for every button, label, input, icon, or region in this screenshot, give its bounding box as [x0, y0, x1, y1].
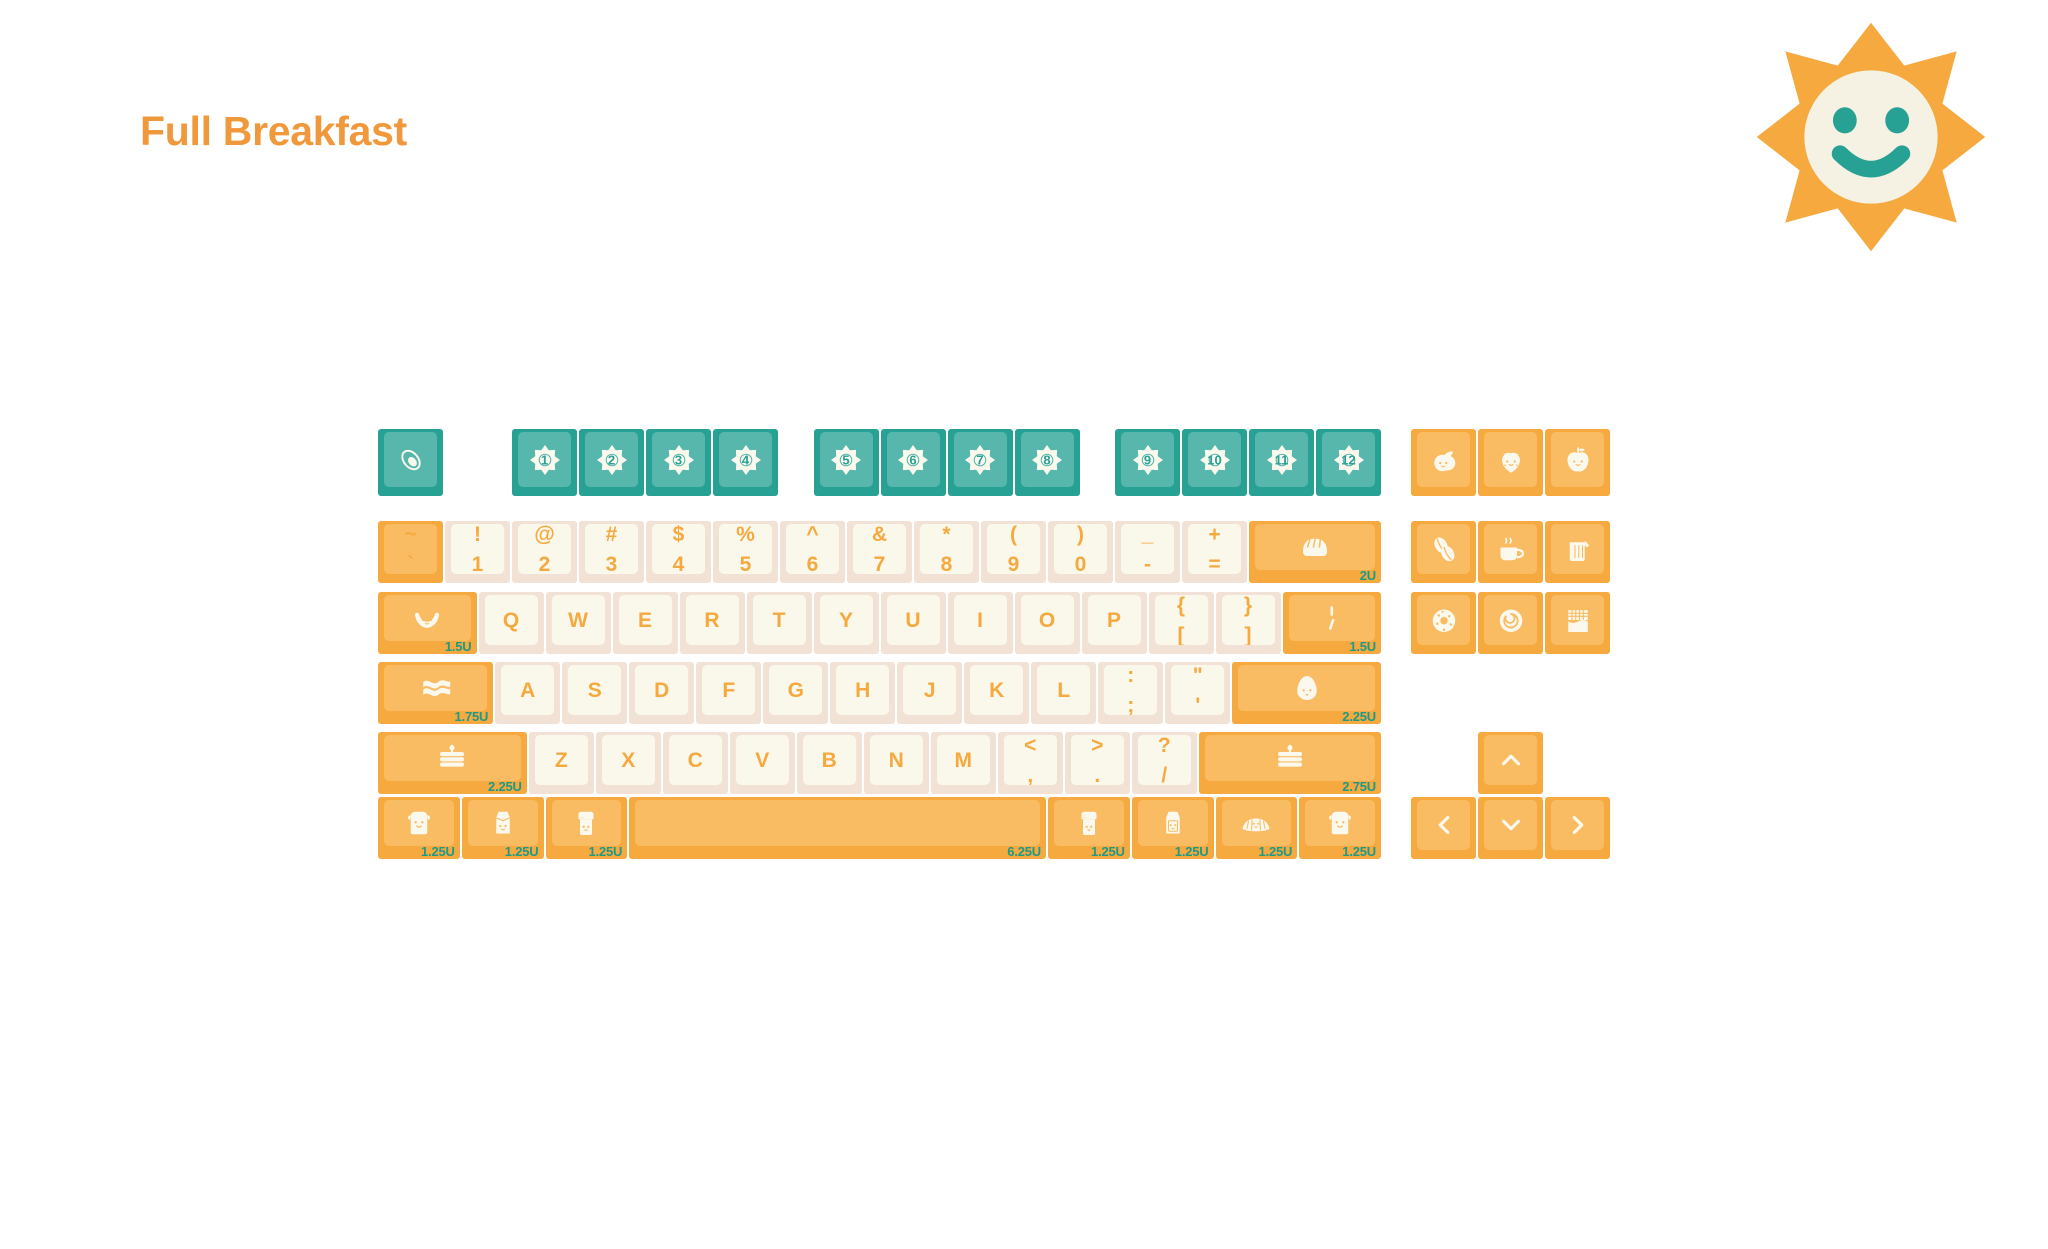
digit-5-legend-secondary: 5 [740, 554, 752, 575]
novelty-coffee-cup-keycap-top [1484, 524, 1537, 574]
equals-keycap-top: += [1188, 524, 1241, 574]
digit-2-keycap-top: @2 [518, 524, 571, 574]
key-digit-3[interactable]: #3 [579, 521, 644, 583]
key-n-legend-primary: N [889, 750, 904, 771]
key-f5[interactable]: 5 [814, 429, 879, 496]
arrow-right-keycap-top [1551, 800, 1604, 850]
key-f6[interactable]: 6 [881, 429, 946, 496]
right-alt-keycap-top [1054, 800, 1124, 846]
key-bracket-left[interactable]: {[ [1149, 592, 1214, 654]
key-equals[interactable]: += [1182, 521, 1247, 583]
key-digit-7[interactable]: &7 [847, 521, 912, 583]
f9-keycap-top: 9 [1121, 432, 1174, 487]
key-key-b[interactable]: B [797, 732, 862, 794]
bracket-right-legend-primary: } [1244, 595, 1252, 616]
key-key-k[interactable]: K [964, 662, 1029, 724]
key-digit-1[interactable]: !1 [445, 521, 510, 583]
bracket-right-keycap-top: }] [1222, 595, 1275, 645]
key-f3[interactable]: 3 [646, 429, 711, 496]
bracket-left-keycap-top: {[ [1155, 595, 1208, 645]
chevron-up-icon [1484, 735, 1537, 785]
quote-legend-primary: " [1193, 665, 1203, 686]
right-shift-keycap-top [1205, 735, 1375, 781]
key-h-keycap-top: H [836, 665, 889, 715]
key-p-keycap-top: P [1088, 595, 1141, 645]
left-ctrl-keycap-top [384, 800, 454, 846]
juice-box-face-icon [1138, 800, 1208, 846]
key-key-v[interactable]: V [730, 732, 795, 794]
key-v-legend-primary: V [755, 750, 769, 771]
key-arrow-down[interactable] [1478, 797, 1543, 859]
jam-jar-face-icon [552, 800, 622, 846]
key-right-shift[interactable]: 2.75U [1199, 732, 1381, 794]
f6-keycap-top: 6 [887, 432, 940, 487]
right-alt-unit-label: 1.25U [1091, 845, 1125, 858]
key-f12[interactable]: 12 [1316, 429, 1381, 496]
key-f9[interactable]: 9 [1115, 429, 1180, 496]
key-novelty-coffee-beans[interactable] [1411, 521, 1476, 583]
key-minus[interactable]: _- [1115, 521, 1180, 583]
novelty-waffle-keycap-top [1551, 595, 1604, 645]
key-arrow-left[interactable] [1411, 797, 1476, 859]
jam-jar-face-icon [1054, 800, 1124, 846]
key-e-keycap-top: E [619, 595, 672, 645]
spacebar-keycap-top [635, 800, 1040, 846]
comma-legend-primary: < [1024, 735, 1036, 756]
digit-6-legend-secondary: 6 [807, 554, 819, 575]
key-q-legend-primary: Q [503, 610, 519, 631]
f3-number: 3 [675, 453, 682, 466]
key-f11[interactable]: 11 [1249, 429, 1314, 496]
grave-legend-secondary: ` [407, 554, 414, 575]
key-novelty-milk-jug[interactable] [1545, 521, 1610, 583]
key-t-keycap-top: T [753, 595, 806, 645]
enter-keycap-top [1238, 665, 1375, 711]
key-r-legend-primary: R [704, 610, 719, 631]
key-digit-2[interactable]: @2 [512, 521, 577, 583]
f12-keycap-top: 12 [1322, 432, 1375, 487]
digit-4-legend-secondary: 4 [673, 554, 685, 575]
digit-8-keycap-top: *8 [920, 524, 973, 574]
key-u-legend-primary: U [905, 610, 920, 631]
key-f8[interactable]: 8 [1015, 429, 1080, 496]
period-keycap-top: >. [1071, 735, 1124, 785]
bracket-left-legend-primary: { [1177, 595, 1185, 616]
arrow-down-keycap-top [1484, 800, 1537, 850]
key-novelty-donut[interactable] [1411, 592, 1476, 654]
f4-number: 4 [742, 453, 749, 466]
right-win-unit-label: 1.25U [1175, 845, 1209, 858]
digit-6-legend-primary: ^ [806, 524, 818, 545]
key-key-w[interactable]: W [546, 592, 611, 654]
key-j-legend-primary: J [924, 680, 936, 701]
minus-legend-secondary: - [1144, 554, 1151, 575]
key-f7[interactable]: 7 [948, 429, 1013, 496]
f3-keycap-top: 3 [652, 432, 705, 487]
novelty-cinnamon-roll-keycap-top [1484, 595, 1537, 645]
left-alt-unit-label: 1.25U [589, 845, 623, 858]
toast-face-icon [384, 800, 454, 846]
key-key-z[interactable]: Z [529, 732, 594, 794]
key-spacebar[interactable]: 6.25U [629, 797, 1046, 859]
digit-0-keycap-top: )0 [1054, 524, 1107, 574]
key-key-g[interactable]: G [763, 662, 828, 724]
key-f-keycap-top: F [702, 665, 755, 715]
right-ctrl-unit-label: 1.25U [1342, 845, 1376, 858]
key-digit-5[interactable]: %5 [713, 521, 778, 583]
key-grave[interactable]: ~` [378, 521, 443, 583]
f10-keycap-top: 10 [1188, 432, 1241, 487]
bracket-right-legend-secondary: ] [1245, 625, 1252, 646]
comma-legend-secondary: , [1027, 765, 1033, 786]
key-u-keycap-top: U [887, 595, 940, 645]
key-m-legend-primary: M [955, 750, 973, 771]
key-a-keycap-top: A [501, 665, 554, 715]
key-novelty-apple[interactable] [1545, 429, 1610, 496]
equals-legend-secondary: = [1208, 554, 1220, 575]
digit-3-keycap-top: #3 [585, 524, 638, 574]
digit-9-legend-primary: ( [1010, 524, 1017, 545]
key-x-keycap-top: X [602, 735, 655, 785]
key-o-keycap-top: O [1021, 595, 1074, 645]
key-x-legend-primary: X [621, 750, 635, 771]
key-right-win[interactable]: 1.25U [1132, 797, 1214, 859]
key-bracket-right[interactable]: }] [1216, 592, 1281, 654]
quote-legend-secondary: ' [1195, 695, 1200, 716]
key-y-keycap-top: Y [820, 595, 873, 645]
key-h-legend-primary: H [855, 680, 870, 701]
key-key-a[interactable]: A [495, 662, 560, 724]
key-y-legend-primary: Y [839, 610, 853, 631]
key-right-alt[interactable]: 1.25U [1048, 797, 1130, 859]
key-f2[interactable]: 2 [579, 429, 644, 496]
f7-number: 7 [976, 453, 983, 466]
novelty-strawberry-keycap-top [1484, 432, 1537, 487]
key-w-keycap-top: W [552, 595, 605, 645]
key-left-win[interactable]: 1.25U [462, 797, 544, 859]
digit-1-legend-secondary: 1 [472, 554, 484, 575]
left-alt-keycap-top [552, 800, 622, 846]
f4-keycap-top: 4 [719, 432, 772, 487]
novelty-milk-jug-keycap-top [1551, 524, 1604, 574]
right-fn-unit-label: 1.25U [1259, 845, 1293, 858]
key-c-keycap-top: C [669, 735, 722, 785]
key-o-legend-primary: O [1039, 610, 1055, 631]
key-novelty-strawberry[interactable] [1478, 429, 1543, 496]
key-digit-9[interactable]: (9 [981, 521, 1046, 583]
digit-0-legend-primary: ) [1077, 524, 1084, 545]
f9-number: 9 [1144, 453, 1151, 466]
slash-legend-primary: ? [1158, 735, 1171, 756]
key-p-legend-primary: P [1107, 610, 1121, 631]
cinnamon-roll-icon [1484, 595, 1537, 645]
escape-keycap-top [384, 432, 437, 487]
digit-7-legend-primary: & [872, 524, 887, 545]
key-k-keycap-top: K [970, 665, 1023, 715]
arrow-up-keycap-top [1484, 735, 1537, 785]
digit-1-keycap-top: !1 [451, 524, 504, 574]
f8-keycap-top: 8 [1021, 432, 1074, 487]
key-b-keycap-top: B [803, 735, 856, 785]
comma-keycap-top: <, [1004, 735, 1057, 785]
f5-keycap-top: 5 [820, 432, 873, 487]
right-fn-keycap-top [1222, 800, 1292, 846]
key-left-ctrl[interactable]: 1.25U [378, 797, 460, 859]
key-t-legend-primary: T [773, 610, 786, 631]
f6-number: 6 [909, 453, 916, 466]
f11-number: 11 [1275, 453, 1289, 466]
key-q-keycap-top: Q [485, 595, 538, 645]
key-key-u[interactable]: U [881, 592, 946, 654]
right-win-keycap-top [1138, 800, 1208, 846]
key-digit-4[interactable]: $4 [646, 521, 711, 583]
spacebar-unit-label: 6.25U [1007, 845, 1041, 858]
f2-keycap-top: 2 [585, 432, 638, 487]
novelty-coffee-beans-keycap-top [1417, 524, 1470, 574]
novelty-apple-keycap-top [1551, 432, 1604, 487]
digit-2-legend-primary: @ [534, 524, 554, 545]
pipe-backslash-icon [1289, 595, 1376, 641]
left-shift-keycap-top [384, 735, 521, 781]
milk-jug-icon [1551, 524, 1604, 574]
key-s-legend-primary: S [588, 680, 602, 701]
croissant-face-icon [1222, 800, 1292, 846]
key-i-keycap-top: I [954, 595, 1007, 645]
strawberry-face-icon [1484, 432, 1537, 487]
donut-icon [1417, 595, 1470, 645]
backslash-keycap-top [1289, 595, 1376, 641]
digit-3-legend-primary: # [606, 524, 618, 545]
egg-icon [1238, 665, 1375, 711]
arrow-left-keycap-top [1417, 800, 1470, 850]
key-a-legend-primary: A [520, 680, 535, 701]
chevron-down-icon [1484, 800, 1537, 850]
f1-number: 1 [541, 453, 548, 466]
digit-9-legend-secondary: 9 [1008, 554, 1020, 575]
key-key-n[interactable]: N [864, 732, 929, 794]
key-l-keycap-top: L [1037, 665, 1090, 715]
f7-keycap-top: 7 [954, 432, 1007, 487]
key-digit-0[interactable]: )0 [1048, 521, 1113, 583]
semicolon-keycap-top: :; [1104, 665, 1157, 715]
digit-8-legend-primary: * [942, 524, 950, 545]
key-i-legend-primary: I [977, 610, 983, 631]
key-period[interactable]: >. [1065, 732, 1130, 794]
key-escape[interactable] [378, 429, 443, 496]
key-key-q[interactable]: Q [479, 592, 544, 654]
left-win-unit-label: 1.25U [505, 845, 539, 858]
key-f4[interactable]: 4 [713, 429, 778, 496]
period-legend-secondary: . [1094, 765, 1100, 786]
digit-0-legend-secondary: 0 [1075, 554, 1087, 575]
right-shift-unit-label: 2.75U [1342, 780, 1376, 793]
key-key-r[interactable]: R [680, 592, 745, 654]
quote-keycap-top: "' [1171, 665, 1224, 715]
f1-keycap-top: 1 [518, 432, 571, 487]
left-win-keycap-top [468, 800, 538, 846]
key-d-keycap-top: D [635, 665, 688, 715]
bacon-icon [384, 665, 487, 711]
right-ctrl-keycap-top [1305, 800, 1375, 846]
digit-7-keycap-top: &7 [853, 524, 906, 574]
key-key-d[interactable]: D [629, 662, 694, 724]
tab-unit-label: 1.5U [445, 640, 472, 653]
minus-keycap-top: _- [1121, 524, 1174, 574]
novelty-peach-keycap-top [1417, 432, 1470, 487]
key-backspace[interactable]: 2U [1249, 521, 1381, 583]
bread-loaf-icon [1255, 524, 1375, 570]
key-left-shift[interactable]: 2.25U [378, 732, 527, 794]
f10-number: 10 [1207, 453, 1221, 466]
key-arrow-up[interactable] [1478, 732, 1543, 794]
pancakes-icon [1205, 735, 1375, 781]
key-tab[interactable]: 1.5U [378, 592, 477, 654]
key-key-e[interactable]: E [613, 592, 678, 654]
key-digit-8[interactable]: *8 [914, 521, 979, 583]
key-d-legend-primary: D [654, 680, 669, 701]
keycap-set-layout: 123456789101112~`!1@2#3$4%5^6&7*8(9)0_-+… [0, 0, 2048, 1249]
waffle-icon [1551, 595, 1604, 645]
key-arrow-right[interactable] [1545, 797, 1610, 859]
key-novelty-coffee-cup[interactable] [1478, 521, 1543, 583]
period-legend-primary: > [1091, 735, 1103, 756]
slash-keycap-top: ?/ [1138, 735, 1191, 785]
key-b-legend-primary: B [822, 750, 837, 771]
key-enter[interactable]: 2.25U [1232, 662, 1381, 724]
digit-4-keycap-top: $4 [652, 524, 705, 574]
key-s-keycap-top: S [568, 665, 621, 715]
chevron-left-icon [1417, 800, 1470, 850]
key-right-fn[interactable]: 1.25U [1216, 797, 1298, 859]
key-key-l[interactable]: L [1031, 662, 1096, 724]
key-g-keycap-top: G [769, 665, 822, 715]
semicolon-legend-secondary: ; [1127, 695, 1134, 716]
apple-face-icon [1551, 432, 1604, 487]
bracket-left-legend-secondary: [ [1178, 625, 1185, 646]
f5-number: 5 [842, 453, 849, 466]
key-f10[interactable]: 10 [1182, 429, 1247, 496]
caps-lock-keycap-top [384, 665, 487, 711]
key-r-keycap-top: R [686, 595, 739, 645]
key-f1[interactable]: 1 [512, 429, 577, 496]
tab-keycap-top [384, 595, 471, 641]
digit-3-legend-secondary: 3 [606, 554, 618, 575]
key-key-p[interactable]: P [1082, 592, 1147, 654]
key-c-legend-primary: C [688, 750, 703, 771]
pancakes-icon [384, 735, 521, 781]
left-ctrl-unit-label: 1.25U [421, 845, 455, 858]
chevron-right-icon [1551, 800, 1604, 850]
key-key-m[interactable]: M [931, 732, 996, 794]
digit-9-keycap-top: (9 [987, 524, 1040, 574]
key-backslash[interactable]: 1.5U [1283, 592, 1382, 654]
key-right-ctrl[interactable]: 1.25U [1299, 797, 1381, 859]
milk-carton-face-icon [468, 800, 538, 846]
key-key-h[interactable]: H [830, 662, 895, 724]
grave-legend-primary: ~ [404, 524, 416, 545]
enter-unit-label: 2.25U [1342, 710, 1376, 723]
key-key-f[interactable]: F [696, 662, 761, 724]
digit-7-legend-secondary: 7 [874, 554, 886, 575]
key-n-keycap-top: N [870, 735, 923, 785]
key-key-i[interactable]: I [948, 592, 1013, 654]
backslash-unit-label: 1.5U [1349, 640, 1376, 653]
f8-number: 8 [1043, 453, 1050, 466]
f11-keycap-top: 11 [1255, 432, 1308, 487]
key-key-t[interactable]: T [747, 592, 812, 654]
key-l-legend-primary: L [1057, 680, 1070, 701]
key-e-legend-primary: E [638, 610, 652, 631]
digit-5-keycap-top: %5 [719, 524, 772, 574]
digit-1-legend-primary: ! [474, 524, 481, 545]
digit-8-legend-secondary: 8 [941, 554, 953, 575]
key-semicolon[interactable]: :; [1098, 662, 1163, 724]
f2-number: 2 [608, 453, 615, 466]
digit-4-legend-primary: $ [673, 524, 685, 545]
key-f-legend-primary: F [722, 680, 735, 701]
slash-legend-secondary: / [1161, 765, 1167, 786]
caps-lock-unit-label: 1.75U [455, 710, 489, 723]
key-key-y[interactable]: Y [814, 592, 879, 654]
digit-6-keycap-top: ^6 [786, 524, 839, 574]
key-slash[interactable]: ?/ [1132, 732, 1197, 794]
key-v-keycap-top: V [736, 735, 789, 785]
key-key-o[interactable]: O [1015, 592, 1080, 654]
key-novelty-cinnamon-roll[interactable] [1478, 592, 1543, 654]
key-key-x[interactable]: X [596, 732, 661, 794]
novelty-donut-keycap-top [1417, 595, 1470, 645]
key-digit-6[interactable]: ^6 [780, 521, 845, 583]
key-j-keycap-top: J [903, 665, 956, 715]
key-novelty-peach[interactable] [1411, 429, 1476, 496]
key-z-legend-primary: Z [555, 750, 568, 771]
key-novelty-waffle[interactable] [1545, 592, 1610, 654]
key-key-j[interactable]: J [897, 662, 962, 724]
key-z-keycap-top: Z [535, 735, 588, 785]
key-left-alt[interactable]: 1.25U [546, 797, 628, 859]
key-comma[interactable]: <, [998, 732, 1063, 794]
key-w-legend-primary: W [568, 610, 588, 631]
grave-keycap-top: ~` [384, 524, 437, 574]
digit-5-legend-primary: % [736, 524, 755, 545]
key-quote[interactable]: "' [1165, 662, 1230, 724]
f12-number: 12 [1341, 453, 1355, 466]
semicolon-legend-primary: : [1127, 665, 1134, 686]
left-shift-unit-label: 2.25U [488, 780, 522, 793]
key-key-c[interactable]: C [663, 732, 728, 794]
coffee-beans-icon [1417, 524, 1470, 574]
sausage-icon [384, 595, 471, 641]
peach-face-icon [1417, 432, 1470, 487]
key-key-s[interactable]: S [562, 662, 627, 724]
key-k-legend-primary: K [989, 680, 1004, 701]
digit-2-legend-secondary: 2 [539, 554, 551, 575]
minus-legend-primary: _ [1142, 524, 1154, 545]
backspace-unit-label: 2U [1360, 569, 1376, 582]
coffee-cup-icon [1484, 524, 1537, 574]
toast-face-icon [1305, 800, 1375, 846]
key-m-keycap-top: M [937, 735, 990, 785]
key-caps-lock[interactable]: 1.75U [378, 662, 493, 724]
key-g-legend-primary: G [788, 680, 804, 701]
backspace-keycap-top [1255, 524, 1375, 570]
avocado-icon [384, 432, 437, 487]
equals-legend-primary: + [1208, 524, 1220, 545]
